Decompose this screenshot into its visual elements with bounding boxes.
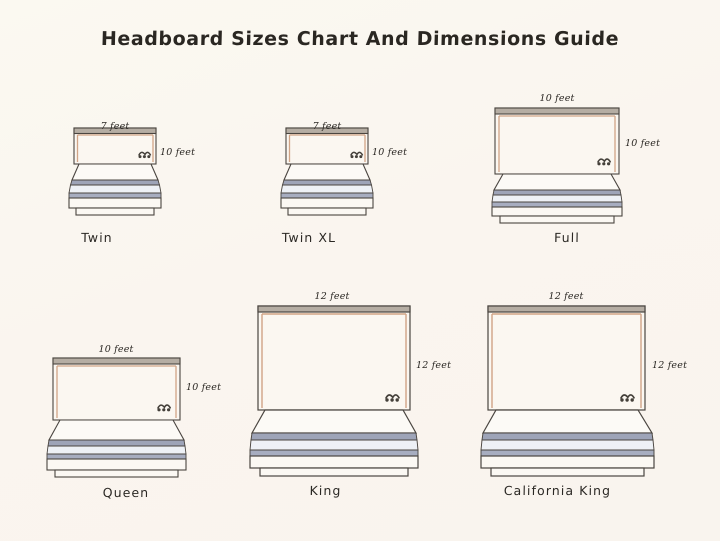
bed-figure-california-king: 12 feet 12 feet California King (466, 278, 691, 508)
dimension-label-top-twin-xl: 7 feet (313, 121, 342, 132)
dimension-label-top-queen: 10 feet (98, 344, 133, 355)
dimension-label-side-king: 12 feet (416, 360, 451, 371)
page-title: Headboard Sizes Chart And Dimensions Gui… (0, 28, 720, 50)
bed-illustration-twin (60, 108, 210, 218)
bed-label-twin: Twin (22, 230, 172, 245)
dimension-label-top-twin: 7 feet (101, 121, 130, 132)
bed-label-california-king: California King (445, 483, 670, 498)
dimension-label-side-california-king: 12 feet (652, 360, 687, 371)
pillow-motif-icon (351, 152, 363, 158)
bed-label-king: King (218, 483, 433, 498)
bed-label-queen: Queen (31, 485, 221, 500)
dimension-label-side-twin-xl: 10 feet (372, 147, 407, 158)
bed-figure-queen: 10 feet 10 feet Queen (36, 330, 226, 510)
dimension-label-top-king: 12 feet (314, 291, 349, 302)
pillow-motif-icon (157, 405, 170, 411)
bed-illustration-king (236, 278, 451, 483)
headboard-sizes-chart-page: Headboard Sizes Chart And Dimensions Gui… (0, 0, 720, 541)
bed-label-twin-xl: Twin XL (234, 230, 384, 245)
bed-illustration-twin-xl (272, 108, 422, 218)
bed-figure-twin-xl: 7 feet 10 feet Twin XL (272, 108, 422, 248)
dimension-label-side-queen: 10 feet (186, 382, 221, 393)
bed-figure-twin: 7 feet 10 feet Twin (60, 108, 210, 248)
bed-figure-king: 12 feet 12 feet King (236, 278, 451, 508)
pillow-motif-icon (139, 152, 151, 158)
bed-label-full: Full (477, 230, 657, 245)
dimension-label-top-full: 10 feet (539, 93, 574, 104)
pillow-motif-icon (597, 159, 610, 165)
dimension-label-side-twin: 10 feet (160, 147, 195, 158)
dimension-label-side-full: 10 feet (625, 138, 660, 149)
bed-illustration-california-king (466, 278, 691, 483)
bed-figure-full: 10 feet 10 feet Full (480, 78, 660, 248)
dimension-label-top-california-king: 12 feet (548, 291, 583, 302)
